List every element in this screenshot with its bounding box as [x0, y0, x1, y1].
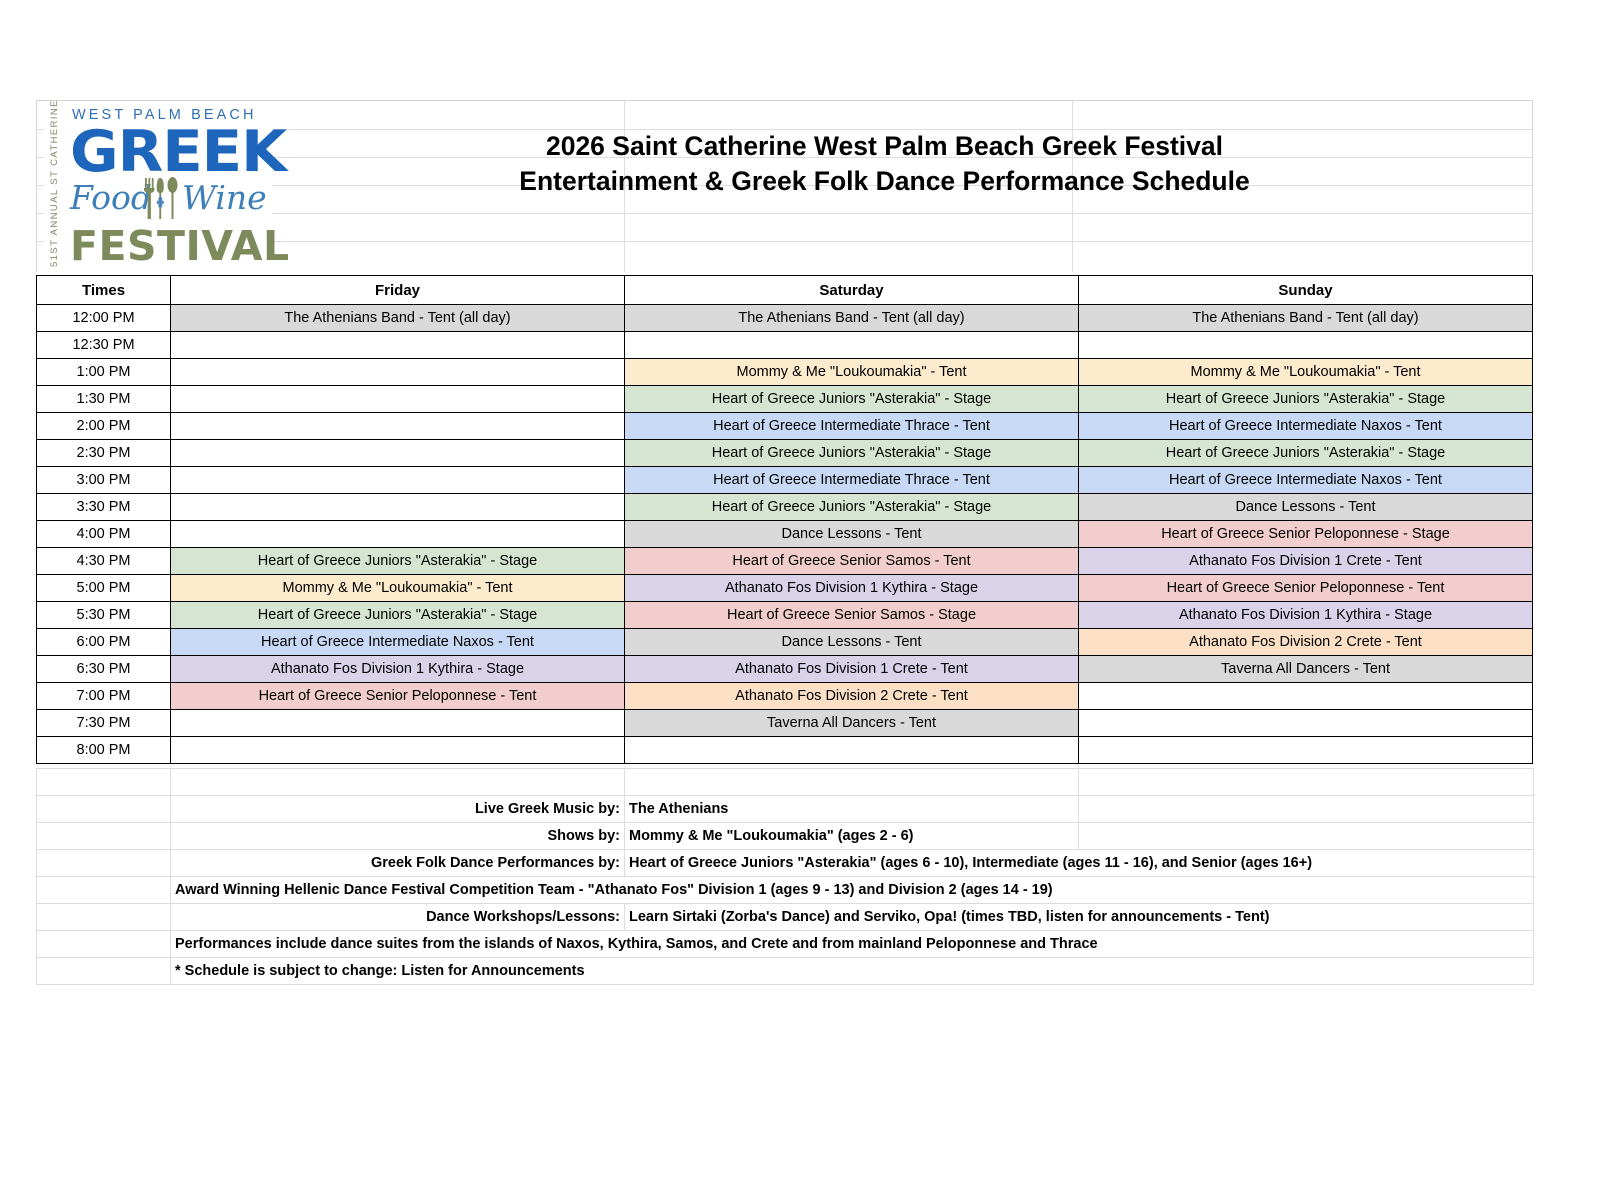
- time-cell: 5:00 PM: [37, 575, 171, 602]
- schedule-cell-friday: [171, 467, 625, 494]
- schedule-cell-saturday: Heart of Greece Intermediate Thrace - Te…: [625, 413, 1079, 440]
- legend-value-workshops: Learn Sirtaki (Zorba's Dance) and Servik…: [625, 904, 1534, 931]
- time-cell: 5:30 PM: [37, 602, 171, 629]
- schedule-cell-sunday: Taverna All Dancers - Tent: [1079, 656, 1533, 683]
- column-header-friday: Friday: [171, 276, 625, 305]
- table-row: 3:00 PMHeart of Greece Intermediate Thra…: [37, 467, 1533, 494]
- schedule-cell-sunday: Athanato Fos Division 2 Crete - Tent: [1079, 629, 1533, 656]
- schedule-cell-saturday: Heart of Greece Juniors "Asterakia" - St…: [625, 494, 1079, 521]
- schedule-cell-sunday: Athanato Fos Division 1 Kythira - Stage: [1079, 602, 1533, 629]
- column-header-times: Times: [37, 276, 171, 305]
- table-row: 5:00 PMMommy & Me "Loukoumakia" - TentAt…: [37, 575, 1533, 602]
- logo-wine-script: Wine: [182, 181, 267, 214]
- legend-table: Live Greek Music by: The Athenians Shows…: [36, 768, 1534, 985]
- schedule-cell-friday: The Athenians Band - Tent (all day): [171, 305, 625, 332]
- schedule-cell-sunday: Mommy & Me "Loukoumakia" - Tent: [1079, 359, 1533, 386]
- column-header-sunday: Sunday: [1079, 276, 1533, 305]
- table-row: 6:00 PMHeart of Greece Intermediate Naxo…: [37, 629, 1533, 656]
- schedule-cell-friday: [171, 737, 625, 764]
- legend-value-music: The Athenians: [625, 796, 1079, 823]
- legend-label-dance: Greek Folk Dance Performances by:: [171, 850, 625, 877]
- schedule-cell-sunday: Heart of Greece Intermediate Naxos - Ten…: [1079, 413, 1533, 440]
- time-cell: 3:00 PM: [37, 467, 171, 494]
- legend-row-award: Award Winning Hellenic Dance Festival Co…: [37, 877, 1534, 904]
- time-cell: 7:00 PM: [37, 683, 171, 710]
- schedule-cell-friday: Athanato Fos Division 1 Kythira - Stage: [171, 656, 625, 683]
- schedule-cell-friday: Heart of Greece Juniors "Asterakia" - St…: [171, 602, 625, 629]
- legend-footnote-line: * Schedule is subject to change: Listen …: [171, 958, 1534, 985]
- logo-main: WEST PALM BEACH GREEK Food: [70, 108, 270, 267]
- schedule-cell-sunday: Heart of Greece Intermediate Naxos - Ten…: [1079, 467, 1533, 494]
- schedule-cell-saturday: Mommy & Me "Loukoumakia" - Tent: [625, 359, 1079, 386]
- schedule-cell-sunday: [1079, 710, 1533, 737]
- legend-value-shows: Mommy & Me "Loukoumakia" (ages 2 - 6): [625, 823, 1079, 850]
- logo-festival-word: FESTIVAL: [70, 226, 270, 267]
- table-row: 7:00 PMHeart of Greece Senior Peloponnes…: [37, 683, 1533, 710]
- schedule-cell-friday: Heart of Greece Senior Peloponnese - Ten…: [171, 683, 625, 710]
- schedule-cell-sunday: Heart of Greece Juniors "Asterakia" - St…: [1079, 440, 1533, 467]
- festival-logo: 51ST ANNUAL ST CATHERINE WEST PALM BEACH…: [44, 106, 272, 270]
- column-header-saturday: Saturday: [625, 276, 1079, 305]
- schedule-cell-friday: [171, 440, 625, 467]
- time-cell: 2:30 PM: [37, 440, 171, 467]
- table-row: 2:30 PMHeart of Greece Juniors "Asteraki…: [37, 440, 1533, 467]
- table-row: 12:00 PMThe Athenians Band - Tent (all d…: [37, 305, 1533, 332]
- schedule-cell-sunday: [1079, 737, 1533, 764]
- schedule-cell-sunday: Athanato Fos Division 1 Crete - Tent: [1079, 548, 1533, 575]
- schedule-cell-saturday: Heart of Greece Juniors "Asterakia" - St…: [625, 386, 1079, 413]
- schedule-cell-saturday: Athanato Fos Division 2 Crete - Tent: [625, 683, 1079, 710]
- schedule-cell-saturday: Heart of Greece Senior Samos - Tent: [625, 548, 1079, 575]
- title-line-1: 2026 Saint Catherine West Palm Beach Gre…: [277, 129, 1492, 164]
- page-title: 2026 Saint Catherine West Palm Beach Gre…: [277, 129, 1492, 199]
- utensils-icon: [142, 175, 182, 223]
- legend-award-line: Award Winning Hellenic Dance Festival Co…: [171, 877, 1534, 904]
- schedule-cell-friday: [171, 413, 625, 440]
- legend-row-performances: Performances include dance suites from t…: [37, 931, 1534, 958]
- time-cell: 7:30 PM: [37, 710, 171, 737]
- title-line-2: Entertainment & Greek Folk Dance Perform…: [277, 164, 1492, 199]
- logo-greek-word: GREEK: [70, 125, 278, 179]
- schedule-cell-saturday: Taverna All Dancers - Tent: [625, 710, 1079, 737]
- table-row: 1:00 PMMommy & Me "Loukoumakia" - TentMo…: [37, 359, 1533, 386]
- legend-row-dance: Greek Folk Dance Performances by: Heart …: [37, 850, 1534, 877]
- table-row: 7:30 PMTaverna All Dancers - Tent: [37, 710, 1533, 737]
- schedule-cell-saturday: The Athenians Band - Tent (all day): [625, 305, 1079, 332]
- table-row: 4:00 PMDance Lessons - TentHeart of Gree…: [37, 521, 1533, 548]
- legend-spacer-row: [37, 769, 1534, 796]
- schedule-cell-sunday: [1079, 332, 1533, 359]
- legend-label-workshops: Dance Workshops/Lessons:: [171, 904, 625, 931]
- schedule-cell-saturday: Dance Lessons - Tent: [625, 629, 1079, 656]
- legend-label-music: Live Greek Music by:: [171, 796, 625, 823]
- schedule-cell-friday: [171, 332, 625, 359]
- table-row: 3:30 PMHeart of Greece Juniors "Asteraki…: [37, 494, 1533, 521]
- schedule-cell-friday: [171, 494, 625, 521]
- time-cell: 8:00 PM: [37, 737, 171, 764]
- schedule-page: 51ST ANNUAL ST CATHERINE WEST PALM BEACH…: [0, 0, 1600, 1190]
- schedule-cell-sunday: Heart of Greece Senior Peloponnese - Ten…: [1079, 575, 1533, 602]
- schedule-cell-saturday: Heart of Greece Juniors "Asterakia" - St…: [625, 440, 1079, 467]
- time-cell: 3:30 PM: [37, 494, 171, 521]
- header-band: 51ST ANNUAL ST CATHERINE WEST PALM BEACH…: [36, 100, 1533, 272]
- legend-row-footnote: * Schedule is subject to change: Listen …: [37, 958, 1534, 985]
- schedule-cell-saturday: Athanato Fos Division 1 Crete - Tent: [625, 656, 1079, 683]
- schedule-cell-friday: [171, 386, 625, 413]
- schedule-cell-saturday: [625, 332, 1079, 359]
- schedule-cell-saturday: Dance Lessons - Tent: [625, 521, 1079, 548]
- logo-food-wine-row: Food: [70, 177, 270, 225]
- table-row: 12:30 PM: [37, 332, 1533, 359]
- logo-food-script: Food: [70, 181, 152, 214]
- time-cell: 1:30 PM: [37, 386, 171, 413]
- schedule-cell-sunday: Heart of Greece Juniors "Asterakia" - St…: [1079, 386, 1533, 413]
- time-cell: 2:00 PM: [37, 413, 171, 440]
- schedule-cell-friday: Heart of Greece Juniors "Asterakia" - St…: [171, 548, 625, 575]
- schedule-cell-sunday: Dance Lessons - Tent: [1079, 494, 1533, 521]
- schedule-cell-friday: [171, 359, 625, 386]
- time-cell: 4:30 PM: [37, 548, 171, 575]
- legend-row-music: Live Greek Music by: The Athenians: [37, 796, 1534, 823]
- schedule-cell-sunday: Heart of Greece Senior Peloponnese - Sta…: [1079, 521, 1533, 548]
- schedule-cell-saturday: Heart of Greece Intermediate Thrace - Te…: [625, 467, 1079, 494]
- table-header-row: Times Friday Saturday Sunday: [37, 276, 1533, 305]
- time-cell: 4:00 PM: [37, 521, 171, 548]
- table-row: 8:00 PM: [37, 737, 1533, 764]
- schedule-cell-saturday: [625, 737, 1079, 764]
- schedule-cell-friday: Mommy & Me "Loukoumakia" - Tent: [171, 575, 625, 602]
- schedule-cell-saturday: Heart of Greece Senior Samos - Stage: [625, 602, 1079, 629]
- table-row: 4:30 PMHeart of Greece Juniors "Asteraki…: [37, 548, 1533, 575]
- table-row: 6:30 PMAthanato Fos Division 1 Kythira -…: [37, 656, 1533, 683]
- schedule-cell-saturday: Athanato Fos Division 1 Kythira - Stage: [625, 575, 1079, 602]
- schedule-cell-friday: [171, 710, 625, 737]
- performance-schedule-table: Times Friday Saturday Sunday 12:00 PMThe…: [36, 275, 1533, 764]
- logo-vertical-text: 51ST ANNUAL ST CATHERINE: [49, 112, 65, 267]
- time-cell: 6:30 PM: [37, 656, 171, 683]
- schedule-cell-friday: Heart of Greece Intermediate Naxos - Ten…: [171, 629, 625, 656]
- schedule-cell-sunday: [1079, 683, 1533, 710]
- legend-row-workshops: Dance Workshops/Lessons: Learn Sirtaki (…: [37, 904, 1534, 931]
- schedule-cell-sunday: The Athenians Band - Tent (all day): [1079, 305, 1533, 332]
- legend-value-dance: Heart of Greece Juniors "Asterakia" (age…: [625, 850, 1534, 877]
- time-cell: 1:00 PM: [37, 359, 171, 386]
- legend-row-shows: Shows by: Mommy & Me "Loukoumakia" (ages…: [37, 823, 1534, 850]
- table-row: 1:30 PMHeart of Greece Juniors "Asteraki…: [37, 386, 1533, 413]
- schedule-cell-friday: [171, 521, 625, 548]
- time-cell: 12:00 PM: [37, 305, 171, 332]
- legend-performances-line: Performances include dance suites from t…: [171, 931, 1534, 958]
- legend-label-shows: Shows by:: [171, 823, 625, 850]
- time-cell: 6:00 PM: [37, 629, 171, 656]
- time-cell: 12:30 PM: [37, 332, 171, 359]
- table-row: 2:00 PMHeart of Greece Intermediate Thra…: [37, 413, 1533, 440]
- table-row: 5:30 PMHeart of Greece Juniors "Asteraki…: [37, 602, 1533, 629]
